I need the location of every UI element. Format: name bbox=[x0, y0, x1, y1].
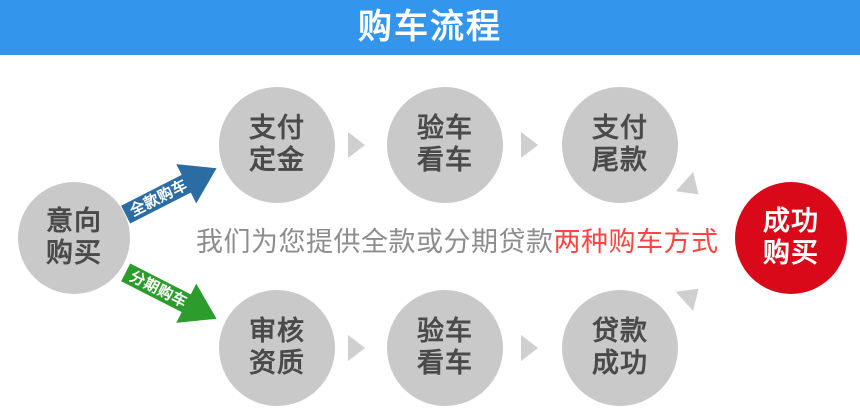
ribbon-label-text: 分期购车 bbox=[127, 267, 190, 311]
node-label-line1: 支付 bbox=[249, 113, 305, 145]
node-top-step-3: 支付 尾款 bbox=[562, 87, 678, 203]
node-label-line2: 购买 bbox=[46, 238, 102, 270]
node-success-purchase: 成功 购买 bbox=[735, 182, 847, 294]
node-label-line1: 审核 bbox=[249, 316, 305, 348]
caption-highlight-text: 两种购车方式 bbox=[554, 227, 719, 257]
center-caption: 我们为您提供全款或分期贷款两种购车方式 bbox=[196, 220, 696, 259]
connector-arrow-top-to-success bbox=[676, 172, 708, 204]
node-start-intent: 意向 购买 bbox=[18, 182, 130, 294]
node-label-line2: 看车 bbox=[417, 145, 473, 177]
node-label-line2: 成功 bbox=[592, 348, 648, 380]
connector-arrow-top-1 bbox=[348, 132, 365, 158]
node-label-line1: 意向 bbox=[46, 206, 102, 238]
ribbon-arrow-installment: 分期购车 bbox=[118, 270, 226, 322]
node-top-step-2: 验车 看车 bbox=[387, 87, 503, 203]
caption-plain-text: 我们为您提供全款或分期贷款 bbox=[196, 227, 554, 257]
ribbon-label-text: 全款购车 bbox=[126, 176, 190, 221]
node-label-line1: 贷款 bbox=[592, 316, 648, 348]
connector-arrow-bottom-to-success bbox=[676, 279, 708, 311]
node-label-line2: 购买 bbox=[763, 238, 819, 270]
node-label-line2: 资质 bbox=[249, 348, 305, 380]
page-title: 购车流程 bbox=[0, 0, 860, 55]
node-label-line2: 尾款 bbox=[592, 145, 648, 177]
node-label-line2: 看车 bbox=[417, 348, 473, 380]
connector-arrow-top-2 bbox=[521, 132, 538, 158]
node-label-line1: 成功 bbox=[763, 206, 819, 238]
node-bottom-step-1: 审核 资质 bbox=[219, 290, 335, 406]
node-label-line1: 验车 bbox=[417, 113, 473, 145]
node-bottom-step-2: 验车 看车 bbox=[387, 290, 503, 406]
node-bottom-step-3: 贷款 成功 bbox=[562, 290, 678, 406]
purchase-flow-infographic: 购车流程 意向 购买 全款购车 分期购车 支付 定金 验车 看车 bbox=[0, 0, 860, 412]
header-banner: 购车流程 bbox=[0, 0, 860, 55]
node-label-line1: 验车 bbox=[417, 316, 473, 348]
node-top-step-1: 支付 定金 bbox=[219, 87, 335, 203]
node-label-line2: 定金 bbox=[249, 145, 305, 177]
connector-arrow-bottom-1 bbox=[348, 335, 365, 361]
node-label-line1: 支付 bbox=[592, 113, 648, 145]
connector-arrow-bottom-2 bbox=[521, 335, 538, 361]
ribbon-arrow-full-payment: 全款购车 bbox=[118, 165, 226, 217]
